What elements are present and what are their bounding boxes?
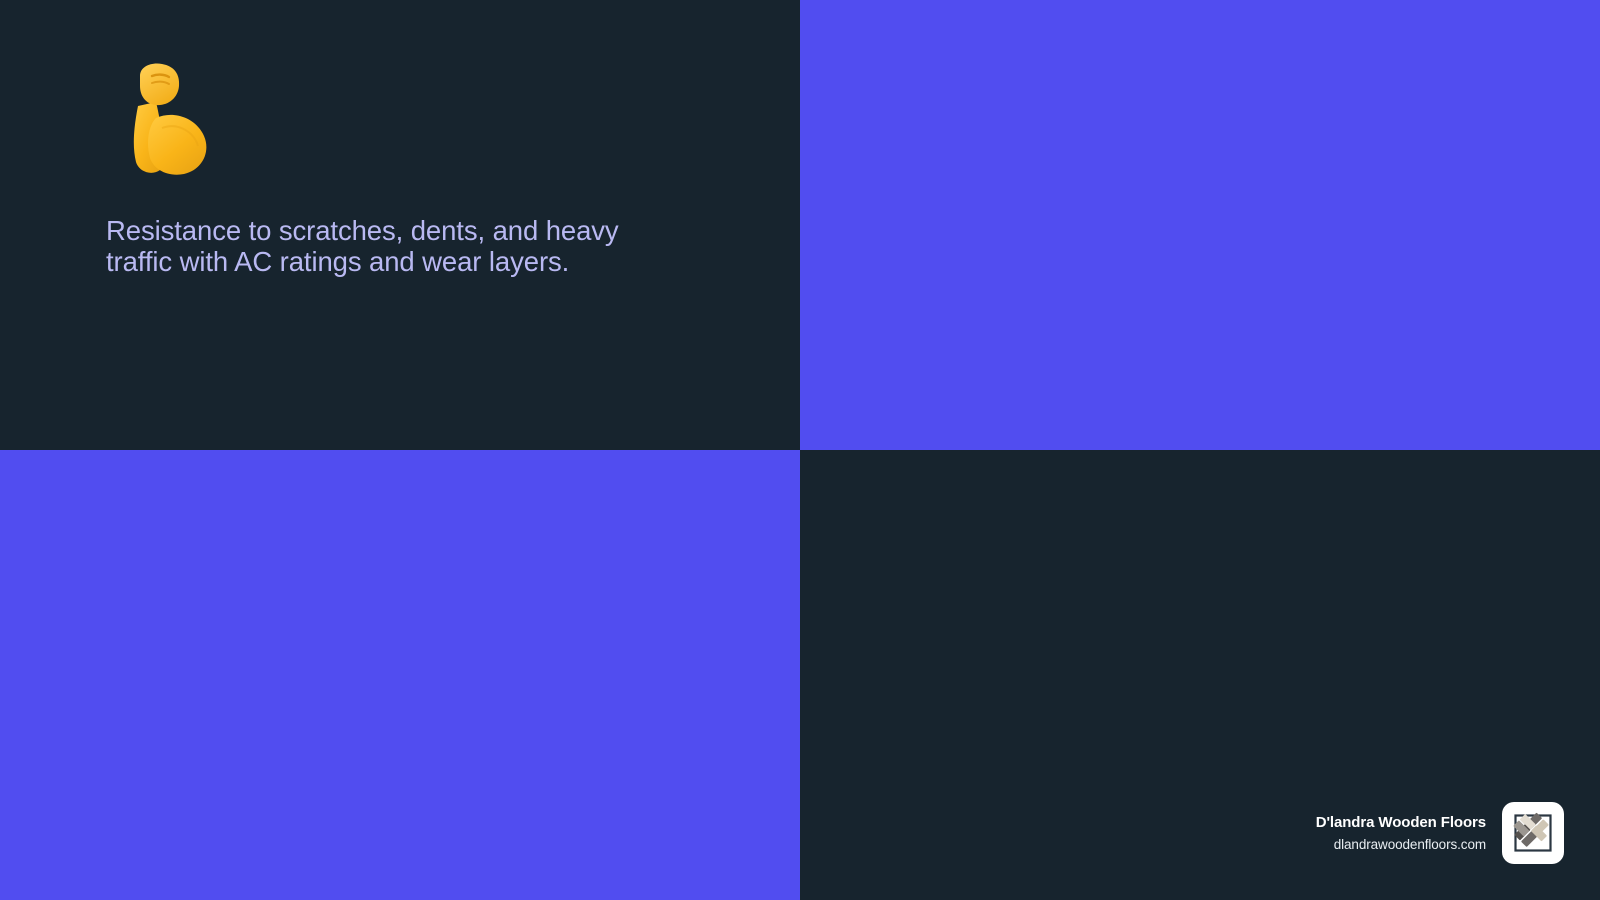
panel-aesthetics: Aesthetic options including wood-look, s… [800,450,1600,900]
panel-durability: Resistance to scratches, dents, and heav… [0,0,800,450]
brand-block: D'landra Wooden Floors dlandrawoodenfloo… [1316,802,1564,864]
flexed-biceps-emoji [112,62,212,180]
infographic-canvas: Resistance to scratches, dents, and heav… [0,0,1600,900]
brand-name: D'landra Wooden Floors [1316,814,1486,831]
parquet-floor-logo[interactable] [1502,802,1564,864]
brand-url[interactable]: dlandrawoodenfloors.com [1334,837,1486,852]
panel-caption: Resistance to scratches, dents, and heav… [106,216,666,277]
panel-water-resistance: Protection against tracked moisture, spi… [800,0,1600,450]
panel-maintenance: Ease of daily cleaning, grout care, and … [0,450,800,900]
brand-text: D'landra Wooden Floors dlandrawoodenfloo… [1316,814,1486,852]
